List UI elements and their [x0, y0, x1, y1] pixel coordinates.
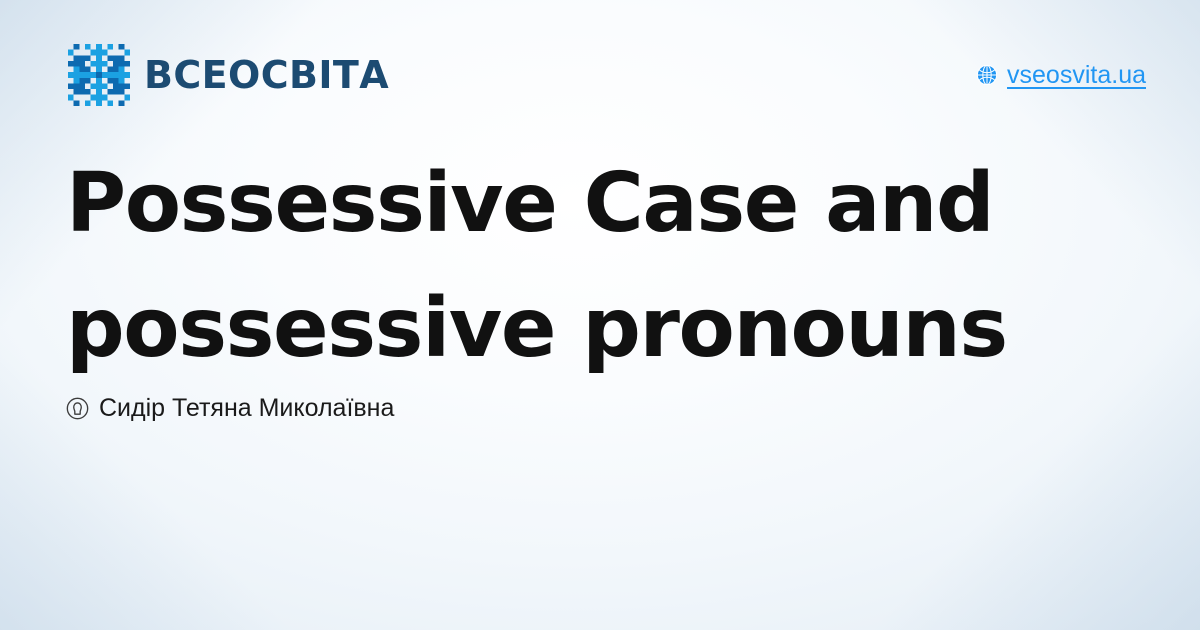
brand-wordmark: ВСЕОСВІТА: [144, 56, 389, 94]
page-title: Possessive Case and possessive pronouns: [66, 142, 1066, 391]
author-byline: Сидір Тетяна Миколаївна: [66, 396, 394, 421]
author-name: Сидір Тетяна Миколаївна: [99, 396, 394, 421]
globe-icon: [976, 64, 998, 86]
header: ВСЕОСВІТА vseosvita.ua: [68, 42, 1146, 108]
vseosvita-ornament-logo-icon: [68, 44, 130, 106]
preview-card: ВСЕОСВІТА vseosvita.ua Possessive Case a…: [0, 0, 1200, 630]
site-url-label: vseosvita.ua: [1007, 63, 1146, 88]
brand-logo[interactable]: ВСЕОСВІТА: [68, 44, 389, 106]
user-avatar-icon: [66, 397, 89, 420]
site-url-link[interactable]: vseosvita.ua: [976, 63, 1146, 88]
